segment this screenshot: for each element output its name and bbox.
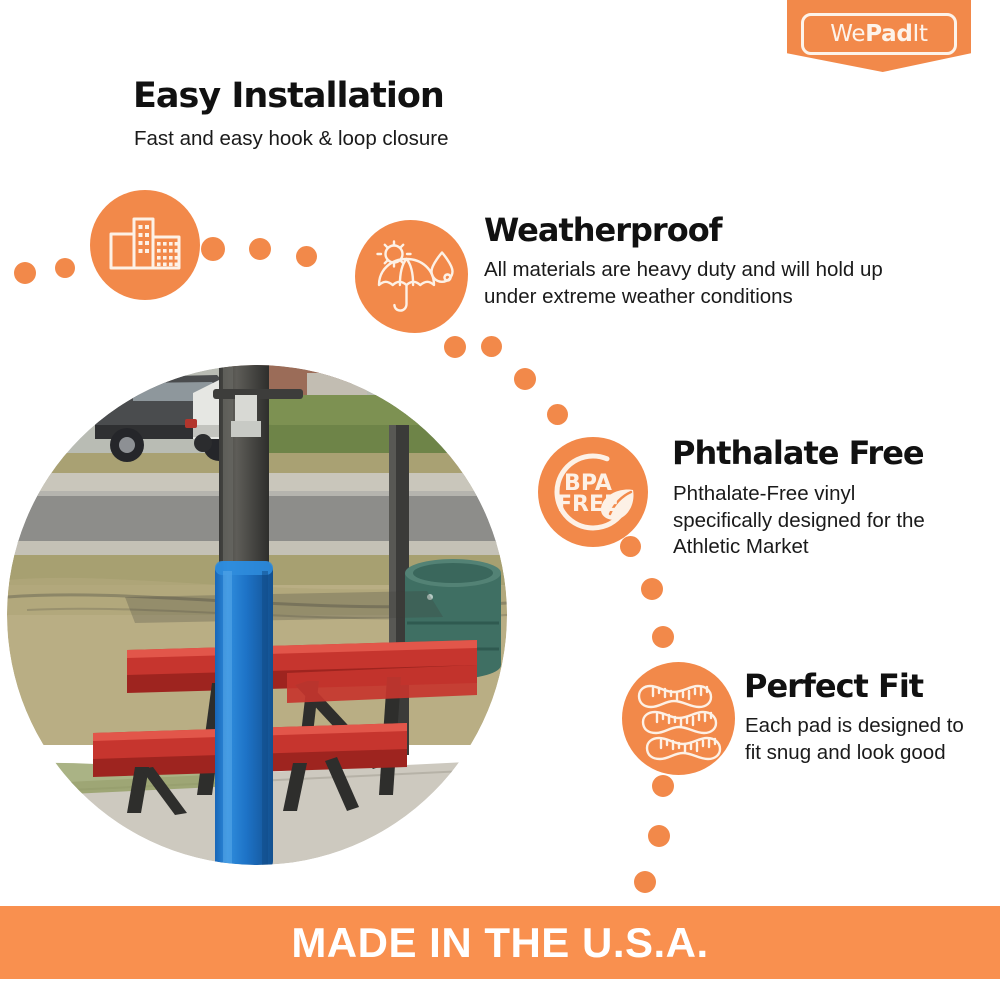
path-dot xyxy=(296,246,317,267)
feature-description-weatherproof: All materials are heavy duty and will ho… xyxy=(484,257,914,310)
brand-logo: WePadIt xyxy=(787,0,971,72)
path-dot xyxy=(634,871,656,893)
logo-text-pad: Pad xyxy=(865,21,912,47)
feature-icon-weatherproof xyxy=(355,220,468,333)
path-dot xyxy=(14,262,36,284)
feature-icon-easy-installation xyxy=(90,190,200,300)
path-dot xyxy=(641,578,663,600)
bpa-free-leaf-icon: BPA FREE xyxy=(541,440,645,544)
measuring-tape-icon xyxy=(631,674,727,764)
made-in-usa-text: MADE IN THE U.S.A. xyxy=(291,919,708,967)
path-dot xyxy=(201,237,225,261)
feature-description-perfect-fit: Each pad is designed to fit snug and loo… xyxy=(745,713,980,766)
feature-title-weatherproof: Weatherproof xyxy=(484,214,722,248)
made-in-usa-banner: MADE IN THE U.S.A. xyxy=(0,906,1000,979)
sun-umbrella-raindrop-icon xyxy=(370,239,454,315)
path-dot xyxy=(481,336,502,357)
path-dot xyxy=(652,626,674,648)
feature-description-phthalate-free: Phthalate-Free vinyl specifically design… xyxy=(673,481,938,561)
feature-title-phthalate-free: Phthalate Free xyxy=(672,437,924,471)
feature-title-easy-installation: Easy Installation xyxy=(133,78,444,115)
logo-text-it: It xyxy=(913,21,928,47)
logo-outline-box: WePadIt xyxy=(801,13,957,55)
logo-text-we: We xyxy=(830,21,865,47)
buildings-icon xyxy=(108,212,182,278)
feature-icon-phthalate-free: BPA FREE xyxy=(538,437,648,547)
product-photo-blue-pole-pad xyxy=(7,365,507,865)
path-dot xyxy=(55,258,75,278)
feature-title-perfect-fit: Perfect Fit xyxy=(744,670,923,704)
logo-wordmark: WePadIt xyxy=(830,21,927,47)
infographic-canvas: WePadIt Easy Installation Fast and easy … xyxy=(0,0,1000,987)
feature-icon-perfect-fit xyxy=(622,662,735,775)
path-dot xyxy=(652,775,674,797)
path-dot xyxy=(444,336,466,358)
bpa-icon-text-line2: FREE xyxy=(557,492,619,517)
path-dot xyxy=(249,238,271,260)
path-dot xyxy=(547,404,568,425)
feature-description-easy-installation: Fast and easy hook & loop closure xyxy=(134,126,654,153)
path-dot xyxy=(648,825,670,847)
path-dot xyxy=(514,368,536,390)
